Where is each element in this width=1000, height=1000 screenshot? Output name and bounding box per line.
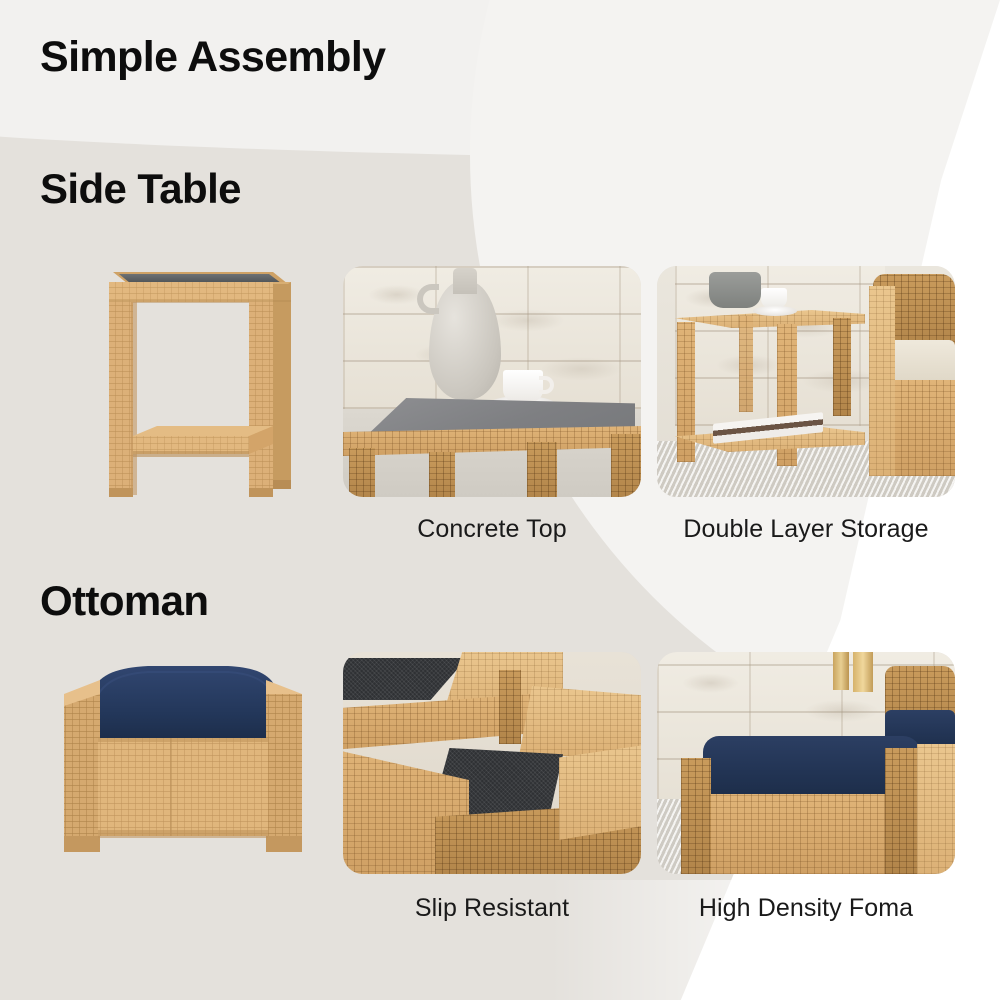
ottoman-side-right	[917, 744, 955, 874]
photo-card-slip-resistant[interactable]	[343, 652, 641, 874]
photo-card-concrete-top[interactable]	[343, 266, 641, 497]
section-heading-side-table: Side Table	[40, 168, 241, 210]
infographic-page: Simple Assembly Side Table	[0, 0, 1000, 1000]
table-leg-center	[429, 452, 455, 497]
section-heading-ottoman: Ottoman	[40, 580, 208, 622]
vase-handle	[417, 284, 439, 314]
caption-concrete-top: Concrete Top	[343, 515, 641, 544]
photo-card-double-layer-storage[interactable]	[657, 266, 955, 497]
side-table-leg-back-right	[833, 318, 851, 416]
planter-on-table	[709, 272, 761, 308]
saucer-on-table	[753, 306, 797, 316]
caption-double-layer-storage: Double Layer Storage	[657, 515, 955, 544]
armchair-armrest	[869, 286, 895, 476]
seat-rail-right	[559, 744, 641, 840]
vase-neck	[453, 268, 477, 294]
frame-divider	[499, 670, 521, 744]
side-table-leg-back-left	[739, 316, 753, 412]
cup-on-table	[761, 288, 787, 308]
coffee-cup-icon	[503, 370, 543, 402]
ottoman-illustration	[52, 660, 314, 865]
ceramic-vase-icon	[429, 282, 501, 400]
table-leg-right	[527, 442, 557, 497]
side-table-illustration	[95, 258, 310, 508]
table-leg-left	[349, 448, 375, 497]
ottoman-post-left	[681, 758, 711, 874]
seat-frame-front	[519, 686, 641, 756]
photo-card-high-density-foam[interactable]	[657, 652, 955, 874]
ottoman-front-panel	[709, 794, 889, 874]
caption-high-density-foam: High Density Foma	[657, 894, 955, 923]
caption-slip-resistant: Slip Resistant	[343, 894, 641, 923]
side-table-product-photo	[95, 258, 310, 508]
bamboo-pole-right	[853, 652, 873, 692]
table-leg-far-right	[611, 434, 641, 497]
bamboo-pole-left	[833, 652, 849, 690]
page-title: Simple Assembly	[40, 36, 386, 79]
ottoman-product-photo	[52, 660, 314, 865]
